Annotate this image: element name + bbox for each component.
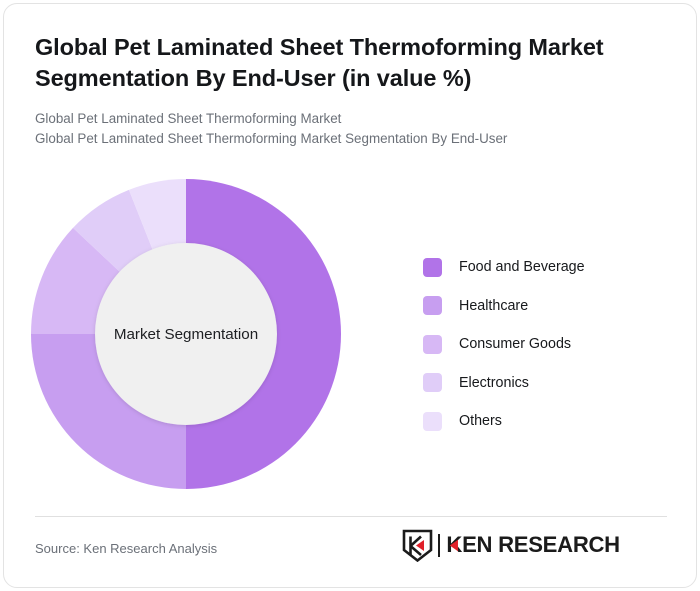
brand-wordmark-text: KEN RESEARCH [446, 533, 619, 557]
legend-item[interactable]: Electronics [423, 364, 673, 403]
legend-label: Electronics [459, 375, 529, 391]
donut-svg: Market Segmentation [28, 172, 344, 492]
subtitle-line-1: Global Pet Laminated Sheet Thermoforming… [35, 109, 660, 129]
legend-item[interactable]: Food and Beverage [423, 248, 673, 287]
legend-item[interactable]: Consumer Goods [423, 325, 673, 364]
chart-legend: Food and BeverageHealthcareConsumer Good… [423, 248, 673, 441]
brand-logo: KEN RESEARCH [402, 528, 668, 562]
ken-research-wordmark: KEN RESEARCH [446, 533, 668, 558]
legend-swatch [423, 373, 442, 392]
subtitle-line-2: Global Pet Laminated Sheet Thermoforming… [35, 129, 660, 149]
footer-divider [35, 516, 667, 517]
legend-label: Food and Beverage [459, 259, 585, 275]
ken-research-mark-icon [402, 529, 433, 562]
donut-chart: Market Segmentation [28, 172, 344, 492]
legend-label: Consumer Goods [459, 336, 571, 352]
legend-label: Others [459, 413, 502, 429]
chart-plot-area: Market Segmentation Food and BeverageHea… [4, 164, 697, 509]
source-note: Source: Ken Research Analysis [35, 541, 217, 556]
donut-center-label: Market Segmentation [114, 326, 258, 343]
legend-item[interactable]: Healthcare [423, 287, 673, 326]
chart-card: Global Pet Laminated Sheet Thermoforming… [3, 3, 697, 588]
chart-header: Global Pet Laminated Sheet Thermoforming… [35, 32, 660, 149]
legend-swatch [423, 412, 442, 431]
legend-item[interactable]: Others [423, 402, 673, 441]
subtitle-group: Global Pet Laminated Sheet Thermoforming… [35, 109, 660, 150]
page-title: Global Pet Laminated Sheet Thermoforming… [35, 32, 660, 95]
legend-swatch [423, 335, 442, 354]
brand-separator [438, 534, 440, 557]
legend-swatch [423, 258, 442, 277]
legend-label: Healthcare [459, 298, 528, 314]
legend-swatch [423, 296, 442, 315]
